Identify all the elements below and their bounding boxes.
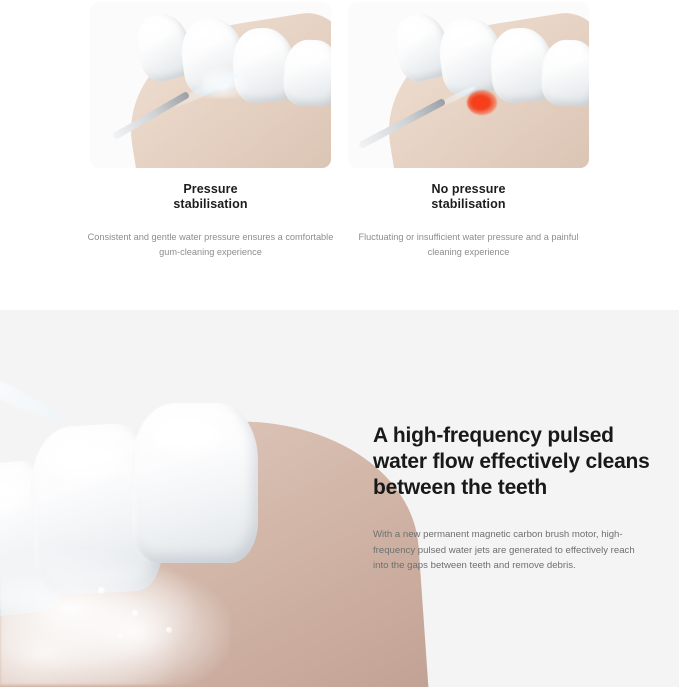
- caption-line-1: Pressure: [183, 182, 237, 196]
- comparison-caption-no-pressure-stabilisation: No pressure stabilisation: [348, 182, 589, 212]
- tooth: [541, 39, 589, 107]
- caption-line-1: No pressure: [431, 182, 505, 196]
- tooth: [283, 39, 331, 107]
- comparison-description-pressure-stabilisation: Consistent and gentle water pressure ens…: [83, 230, 338, 259]
- caption-line-2: stabilisation: [173, 197, 247, 211]
- water-splash: [0, 545, 230, 685]
- dental-illustration-no-pressure-stabilisation: [348, 2, 589, 168]
- comparison-card-pressure-stabilisation: [90, 2, 331, 168]
- comparison-card-no-pressure-stabilisation: [348, 2, 589, 168]
- hero-text-block: A high-frequency pulsed water flow effec…: [373, 423, 669, 574]
- comparison-caption-pressure-stabilisation: Pressure stabilisation: [90, 182, 331, 212]
- water-droplet: [98, 587, 105, 594]
- hero-section: A high-frequency pulsed water flow effec…: [0, 310, 679, 687]
- gum-irritation-indicator: [467, 90, 497, 115]
- water-jet: [0, 360, 63, 427]
- hero-title: A high-frequency pulsed water flow effec…: [373, 423, 669, 501]
- hero-body: With a new permanent magnetic carbon bru…: [373, 527, 635, 574]
- tooth: [132, 403, 258, 563]
- comparison-section: Pressure stabilisation No pressure stabi…: [0, 0, 679, 310]
- water-droplet: [166, 627, 172, 633]
- comparison-description-no-pressure-stabilisation: Fluctuating or insufficient water pressu…: [341, 230, 596, 259]
- dental-illustration-pressure-stabilisation: [90, 2, 331, 168]
- caption-line-2: stabilisation: [431, 197, 505, 211]
- water-droplet: [118, 633, 123, 638]
- water-droplet: [132, 610, 138, 616]
